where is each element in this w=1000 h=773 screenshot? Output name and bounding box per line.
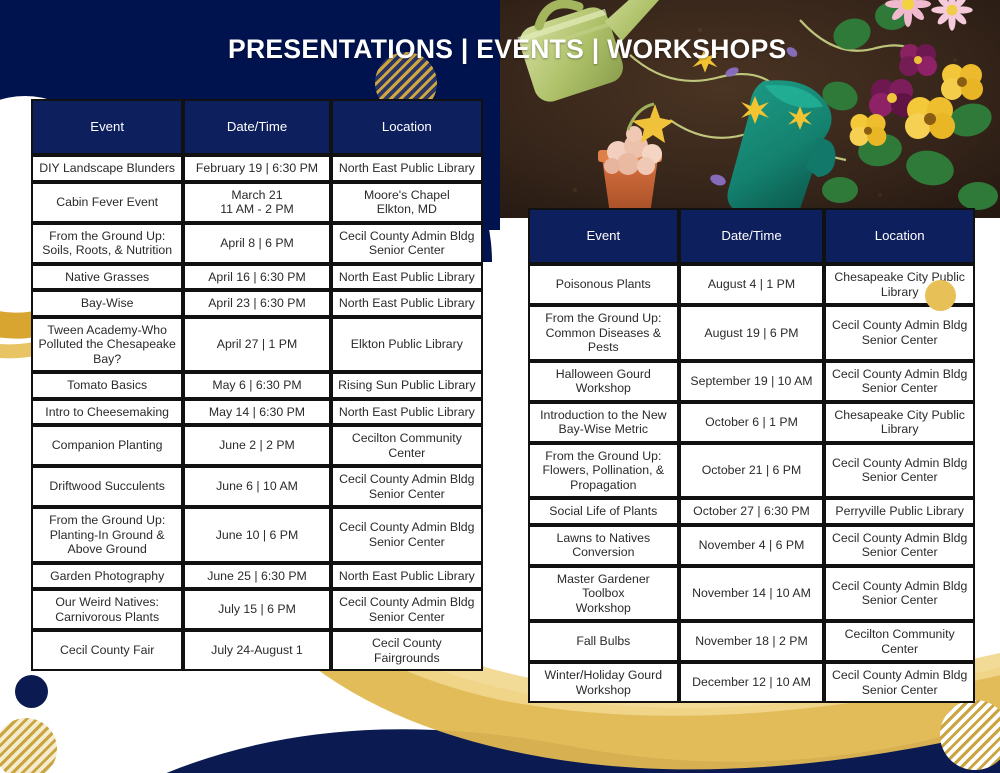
cell-location: North East Public Library bbox=[331, 563, 483, 590]
cell-datetime: November 18 | 2 PM bbox=[679, 621, 825, 662]
table-row: From the Ground Up:Planting-In Ground &A… bbox=[31, 507, 483, 563]
cell-location: Cecilton CommunityCenter bbox=[824, 621, 975, 662]
cell-event: Halloween GourdWorkshop bbox=[528, 361, 679, 402]
cell-location: Cecil County Admin BldgSenior Center bbox=[331, 589, 483, 630]
cell-location: Cecil County Admin BldgSenior Center bbox=[824, 305, 975, 361]
hatched-circle-bottom-left-icon bbox=[0, 718, 57, 773]
table-row: Bay-WiseApril 23 | 6:30 PMNorth East Pub… bbox=[31, 290, 483, 317]
cell-location: Cecil County Admin BldgSenior Center bbox=[824, 443, 975, 499]
table-row: DIY Landscape BlundersFebruary 19 | 6:30… bbox=[31, 155, 483, 182]
table-head: Event Date/Time Location bbox=[528, 208, 975, 264]
cell-location: North East Public Library bbox=[331, 399, 483, 426]
cell-event: Intro to Cheesemaking bbox=[31, 399, 183, 426]
table-row: Intro to CheesemakingMay 14 | 6:30 PMNor… bbox=[31, 399, 483, 426]
cell-event: Native Grasses bbox=[31, 264, 183, 291]
table-row: Introduction to the NewBay-Wise MetricOc… bbox=[528, 402, 975, 443]
cell-event: From the Ground Up:Planting-In Ground &A… bbox=[31, 507, 183, 563]
cell-datetime: October 27 | 6:30 PM bbox=[679, 498, 825, 525]
cell-event: Tween Academy-Who Polluted the Chesapeak… bbox=[31, 317, 183, 373]
cell-datetime: May 14 | 6:30 PM bbox=[183, 399, 330, 426]
cell-location: Rising Sun Public Library bbox=[331, 372, 483, 399]
table-row: Winter/Holiday GourdWorkshopDecember 12 … bbox=[528, 662, 975, 703]
column-header-event: Event bbox=[31, 99, 183, 155]
poster-canvas: PRESENTATIONS | EVENTS | WORKSHOPS Event… bbox=[0, 0, 1000, 773]
cell-event: DIY Landscape Blunders bbox=[31, 155, 183, 182]
cell-location: Cecil County Admin BldgSenior Center bbox=[824, 525, 975, 566]
cell-event: Social Life of Plants bbox=[528, 498, 679, 525]
cell-location: Cecil County Admin BldgSenior Center bbox=[331, 466, 483, 507]
column-header-event: Event bbox=[528, 208, 679, 264]
cell-datetime: November 4 | 6 PM bbox=[679, 525, 825, 566]
cell-datetime: October 21 | 6 PM bbox=[679, 443, 825, 499]
cell-datetime: June 6 | 10 AM bbox=[183, 466, 330, 507]
table-row: Driftwood SucculentsJune 6 | 10 AMCecil … bbox=[31, 466, 483, 507]
cell-event: Cabin Fever Event bbox=[31, 182, 183, 223]
cell-location: Cecil County Admin BldgSenior Center bbox=[824, 361, 975, 402]
cell-event: Bay-Wise bbox=[31, 290, 183, 317]
cell-event: Introduction to the NewBay-Wise Metric bbox=[528, 402, 679, 443]
cell-event: From the Ground Up:Soils, Roots, & Nutri… bbox=[31, 223, 183, 264]
table-row: Social Life of PlantsOctober 27 | 6:30 P… bbox=[528, 498, 975, 525]
schedule-table: Event Date/Time Location Poisonous Plant… bbox=[528, 208, 975, 703]
schedule-table-left: Event Date/Time Location DIY Landscape B… bbox=[31, 99, 483, 671]
table-row: Native GrassesApril 16 | 6:30 PMNorth Ea… bbox=[31, 264, 483, 291]
cell-datetime: March 2111 AM - 2 PM bbox=[183, 182, 330, 223]
navy-dot-bottom-left-icon bbox=[15, 675, 48, 708]
cell-event: Poisonous Plants bbox=[528, 264, 679, 305]
cell-location: Cecil County Admin BldgSenior Center bbox=[824, 566, 975, 622]
cell-datetime: April 27 | 1 PM bbox=[183, 317, 330, 373]
cell-datetime: June 2 | 2 PM bbox=[183, 425, 330, 466]
cell-event: Tomato Basics bbox=[31, 372, 183, 399]
cell-location: Perryville Public Library bbox=[824, 498, 975, 525]
table-row: Fall BulbsNovember 18 | 2 PMCecilton Com… bbox=[528, 621, 975, 662]
cell-datetime: August 19 | 6 PM bbox=[679, 305, 825, 361]
table-row: Cecil County FairJuly 24-August 1Cecil C… bbox=[31, 630, 483, 671]
cell-datetime: May 6 | 6:30 PM bbox=[183, 372, 330, 399]
table-body: DIY Landscape BlundersFebruary 19 | 6:30… bbox=[31, 155, 483, 671]
table-row: From the Ground Up:Flowers, Pollination,… bbox=[528, 443, 975, 499]
cell-location: North East Public Library bbox=[331, 264, 483, 291]
table-header-row: Event Date/Time Location bbox=[31, 99, 483, 155]
cell-location: North East Public Library bbox=[331, 155, 483, 182]
cell-datetime: February 19 | 6:30 PM bbox=[183, 155, 330, 182]
cell-location: Cecilton CommunityCenter bbox=[331, 425, 483, 466]
table-row: Halloween GourdWorkshopSeptember 19 | 10… bbox=[528, 361, 975, 402]
table-row: Tween Academy-Who Polluted the Chesapeak… bbox=[31, 317, 483, 373]
table-head: Event Date/Time Location bbox=[31, 99, 483, 155]
table-row: From the Ground Up:Common Diseases &Pest… bbox=[528, 305, 975, 361]
cell-location: Cecil County Fairgrounds bbox=[331, 630, 483, 671]
cell-event: Fall Bulbs bbox=[528, 621, 679, 662]
cell-datetime: April 23 | 6:30 PM bbox=[183, 290, 330, 317]
cell-location: Elkton Public Library bbox=[331, 317, 483, 373]
cell-location: Cecil County Admin BldgSenior Center bbox=[824, 662, 975, 703]
cell-event: Master Gardener ToolboxWorkshop bbox=[528, 566, 679, 622]
column-header-datetime: Date/Time bbox=[679, 208, 825, 264]
schedule-table-right: Event Date/Time Location Poisonous Plant… bbox=[528, 208, 975, 703]
garden-flatlay-photo bbox=[500, 0, 1000, 218]
schedule-table: Event Date/Time Location DIY Landscape B… bbox=[31, 99, 483, 671]
hatched-circle-bottom-right-icon bbox=[940, 700, 1000, 770]
cell-datetime: December 12 | 10 AM bbox=[679, 662, 825, 703]
cell-event: Winter/Holiday GourdWorkshop bbox=[528, 662, 679, 703]
cell-event: From the Ground Up:Flowers, Pollination,… bbox=[528, 443, 679, 499]
table-row: Cabin Fever EventMarch 2111 AM - 2 PMMoo… bbox=[31, 182, 483, 223]
table-row: Master Gardener ToolboxWorkshopNovember … bbox=[528, 566, 975, 622]
cell-event: Garden Photography bbox=[31, 563, 183, 590]
cell-datetime: September 19 | 10 AM bbox=[679, 361, 825, 402]
cell-event: From the Ground Up:Common Diseases &Pest… bbox=[528, 305, 679, 361]
cell-location: North East Public Library bbox=[331, 290, 483, 317]
cell-datetime: October 6 | 1 PM bbox=[679, 402, 825, 443]
cell-datetime: November 14 | 10 AM bbox=[679, 566, 825, 622]
table-row: Companion PlantingJune 2 | 2 PMCecilton … bbox=[31, 425, 483, 466]
table-header-row: Event Date/Time Location bbox=[528, 208, 975, 264]
cell-event: Driftwood Succulents bbox=[31, 466, 183, 507]
cell-event: Cecil County Fair bbox=[31, 630, 183, 671]
cell-event: Lawns to NativesConversion bbox=[528, 525, 679, 566]
cell-datetime: July 24-August 1 bbox=[183, 630, 330, 671]
table-row: Tomato BasicsMay 6 | 6:30 PMRising Sun P… bbox=[31, 372, 483, 399]
cell-location: Cecil County Admin BldgSenior Center bbox=[331, 507, 483, 563]
gold-dot-accent-icon bbox=[925, 280, 956, 311]
table-row: From the Ground Up:Soils, Roots, & Nutri… bbox=[31, 223, 483, 264]
table-row: Our Weird Natives:Carnivorous PlantsJuly… bbox=[31, 589, 483, 630]
column-header-location: Location bbox=[824, 208, 975, 264]
cell-location: Chesapeake City PublicLibrary bbox=[824, 402, 975, 443]
table-body: Poisonous PlantsAugust 4 | 1 PMChesapeak… bbox=[528, 264, 975, 703]
table-row: Poisonous PlantsAugust 4 | 1 PMChesapeak… bbox=[528, 264, 975, 305]
cell-datetime: June 10 | 6 PM bbox=[183, 507, 330, 563]
cell-datetime: April 8 | 6 PM bbox=[183, 223, 330, 264]
cell-event: Our Weird Natives:Carnivorous Plants bbox=[31, 589, 183, 630]
table-row: Lawns to NativesConversionNovember 4 | 6… bbox=[528, 525, 975, 566]
cell-event: Companion Planting bbox=[31, 425, 183, 466]
cell-location: Cecil County Admin BldgSenior Center bbox=[331, 223, 483, 264]
cell-datetime: August 4 | 1 PM bbox=[679, 264, 825, 305]
table-row: Garden PhotographyJune 25 | 6:30 PMNorth… bbox=[31, 563, 483, 590]
cell-datetime: June 25 | 6:30 PM bbox=[183, 563, 330, 590]
cell-datetime: July 15 | 6 PM bbox=[183, 589, 330, 630]
column-header-location: Location bbox=[331, 99, 483, 155]
cell-location: Moore's ChapelElkton, MD bbox=[331, 182, 483, 223]
page-title: PRESENTATIONS | EVENTS | WORKSHOPS bbox=[228, 34, 787, 65]
cell-datetime: April 16 | 6:30 PM bbox=[183, 264, 330, 291]
column-header-datetime: Date/Time bbox=[183, 99, 330, 155]
